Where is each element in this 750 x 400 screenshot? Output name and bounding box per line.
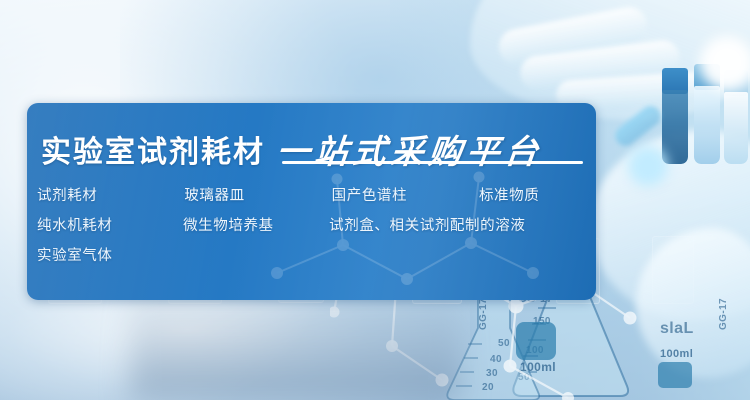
- light-glint: [628, 146, 668, 186]
- headline-underline: [282, 161, 583, 164]
- category-item[interactable]: 标准物质: [479, 181, 593, 211]
- sample-vial: [662, 68, 688, 164]
- volume-label: 100ml: [660, 348, 693, 360]
- category-row: 纯水机耗材 微生物培养基 试剂盒、相关试剂配制的溶液: [37, 211, 593, 241]
- category-item[interactable]: 玻璃器皿: [184, 181, 331, 211]
- promo-panel: 实验室试剂耗材 一站式采购平台 试剂耗材 玻璃器皿 国产色谱柱 标准物质 纯水机…: [27, 103, 596, 300]
- headline-main-text: 实验室试剂耗材: [41, 127, 265, 171]
- light-glint: [700, 36, 750, 90]
- brand-mark-label: slaL: [660, 320, 694, 338]
- glass-code-label: GG-17: [718, 298, 729, 330]
- headline-calligraphy-text: 一站式采购平台: [274, 125, 545, 173]
- category-row: 试剂耗材 玻璃器皿 国产色谱柱 标准物质: [37, 181, 593, 211]
- category-item[interactable]: 微生物培养基: [183, 211, 329, 241]
- vial-body: [724, 92, 748, 164]
- category-row: 实验室气体: [37, 241, 593, 271]
- vial-body: [694, 86, 720, 164]
- category-list: 试剂耗材 玻璃器皿 国产色谱柱 标准物质 纯水机耗材 微生物培养基 试剂盒、相关…: [37, 181, 593, 271]
- vial-body: [662, 90, 688, 164]
- promo-banner: 250 APPROX 200 150 100 50 50 40 30 20 GG…: [0, 0, 750, 400]
- headline: 实验室试剂耗材 一站式采购平台: [41, 120, 591, 178]
- liquid-block: [658, 362, 692, 388]
- category-item[interactable]: 国产色谱柱: [332, 181, 479, 211]
- category-item[interactable]: 试剂耗材: [37, 181, 184, 211]
- category-item[interactable]: 试剂盒、相关试剂配制的溶液: [329, 211, 593, 241]
- category-item[interactable]: 实验室气体: [37, 241, 192, 271]
- category-item[interactable]: 纯水机耗材: [37, 211, 183, 241]
